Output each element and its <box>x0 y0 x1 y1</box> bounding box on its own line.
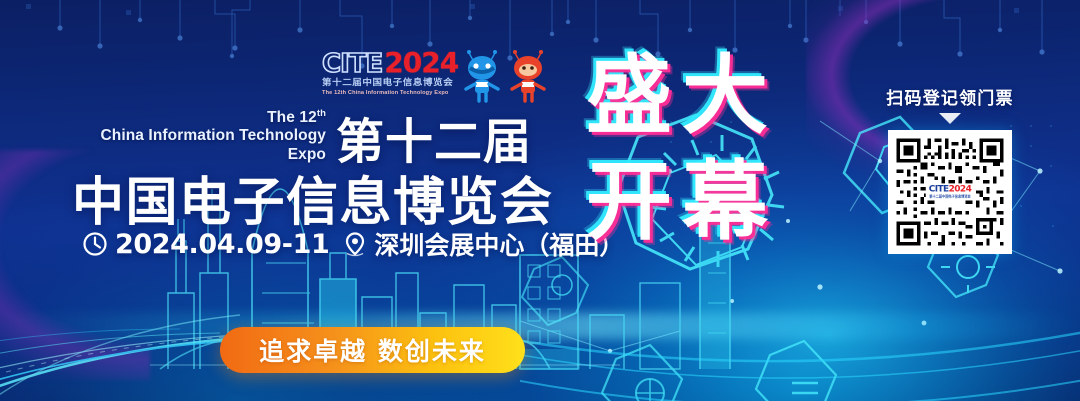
qr-code-frame[interactable]: CITE2024 第十二届中国电子信息博览会 <box>888 130 1012 254</box>
qr-logo-word: CITE <box>929 184 949 194</box>
chevron-down-arrow-icon <box>939 113 961 124</box>
mascot-blue <box>466 50 498 101</box>
light-trails-icon <box>0 251 540 401</box>
eyebrow-line1: The 12 <box>267 109 317 126</box>
qr-registration-block[interactable]: 扫码登记领门票 <box>880 84 1020 254</box>
hero-headline-line1: 盛大 <box>586 48 816 144</box>
cite-logo-subtitle-en: The 12th China Information Technology Ex… <box>322 90 462 96</box>
event-date: 2024.04.09-11 <box>115 229 329 260</box>
eyebrow-ordinal-sup: th <box>317 108 326 119</box>
hero-headline-line2: 开幕 <box>586 154 816 250</box>
mascot-red <box>512 50 544 101</box>
cite-logo: CITE 2024 第十二届中国电子信息博览会 The 12th China I… <box>322 46 462 104</box>
event-date-item: 2024.04.09-11 <box>82 229 329 260</box>
event-venue-item: 深圳会展中心（福田） <box>343 226 624 262</box>
event-main-title: 中国电子信息博览会 <box>72 160 554 235</box>
mascot-pair-icon <box>460 46 552 108</box>
hero-headline: 盛大 开幕 <box>586 48 816 278</box>
slogan-text: 追求卓越 数创未来 <box>259 332 486 368</box>
qr-logo-sub: 第十二届中国电子信息博览会 <box>929 195 972 198</box>
qr-embedded-logo: CITE2024 第十二届中国电子信息博览会 <box>926 183 975 200</box>
event-info-block: The 12th China Information Technology Ex… <box>78 108 598 164</box>
qr-title: 扫码登记领门票 <box>880 84 1020 109</box>
eyebrow-line2: China Information Technology Expo <box>78 127 326 164</box>
horizon-light-band <box>0 313 1080 339</box>
event-meta-row: 2024.04.09-11 深圳会展中心（福田） <box>82 226 624 262</box>
cite-2024-promo-banner: CITE 2024 第十二届中国电子信息博览会 The 12th China I… <box>0 0 1080 401</box>
event-eyebrow-en: The 12th China Information Technology Ex… <box>78 108 326 164</box>
cite-logo-subtitle-cn: 第十二届中国电子信息博览会 <box>322 75 462 88</box>
qr-logo-year: 2024 <box>949 184 972 194</box>
slogan-pill-button[interactable]: 追求卓越 数创未来 <box>220 327 525 373</box>
location-pin-icon <box>343 231 367 257</box>
clock-icon <box>82 231 108 257</box>
